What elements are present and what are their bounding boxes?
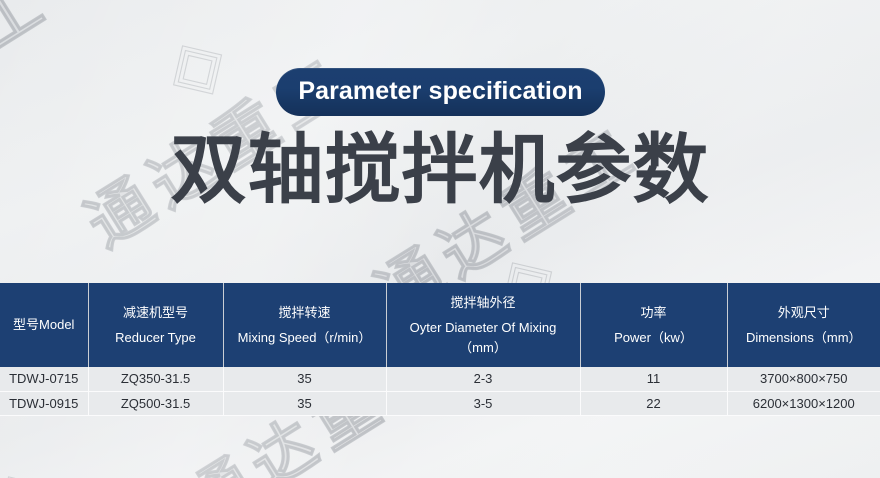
column-header-dimensions-en: Dimensions（mm）: [734, 328, 875, 348]
section-badge-label: Parameter specification: [298, 79, 582, 106]
column-header-power-en: Power（kw）: [587, 328, 721, 348]
cell-reducer-type: ZQ350-31.5: [88, 367, 223, 391]
page-content: Parameter specification 双轴搅拌机参数 型号Model …: [0, 0, 880, 478]
section-badge: Parameter specification: [276, 68, 605, 116]
column-header-dimensions: 外观尺寸 Dimensions（mm）: [727, 283, 880, 367]
spec-table-header: 型号Model 减速机型号 Reducer Type 搅拌转速 Mixing S…: [0, 283, 880, 367]
column-header-mixing-speed: 搅拌转速 Mixing Speed（r/min）: [223, 283, 386, 367]
spec-table-body: TDWJ-0715 ZQ350-31.5 35 2-3 11 3700×800×…: [0, 367, 880, 415]
spec-sheet-page: 通达重工 通达重工 通达重工 通达重工 通达重工 ◈ ◈ ◈ ◈ Paramet…: [0, 0, 880, 478]
table-row: TDWJ-0915 ZQ500-31.5 35 3-5 22 6200×1300…: [0, 391, 880, 415]
column-header-model: 型号Model: [0, 283, 88, 367]
column-header-reducer-type-cn: 减速机型号: [95, 303, 217, 323]
cell-dimensions: 6200×1300×1200: [727, 391, 880, 415]
column-header-reducer-type: 减速机型号 Reducer Type: [88, 283, 223, 367]
column-header-oyter-diameter-en: Oyter Diameter Of Mixing（mm）: [393, 318, 574, 358]
cell-model: TDWJ-0715: [0, 367, 88, 391]
column-header-oyter-diameter: 搅拌轴外径 Oyter Diameter Of Mixing（mm）: [386, 283, 580, 367]
spec-table: 型号Model 减速机型号 Reducer Type 搅拌转速 Mixing S…: [0, 283, 880, 416]
cell-power: 22: [580, 391, 727, 415]
cell-mixing-speed: 35: [223, 391, 386, 415]
column-header-dimensions-cn: 外观尺寸: [734, 303, 875, 323]
cell-power: 11: [580, 367, 727, 391]
table-header-row: 型号Model 减速机型号 Reducer Type 搅拌转速 Mixing S…: [0, 283, 880, 367]
column-header-power: 功率 Power（kw）: [580, 283, 727, 367]
cell-oyter-diameter: 2-3: [386, 367, 580, 391]
cell-oyter-diameter: 3-5: [386, 391, 580, 415]
cell-reducer-type: ZQ500-31.5: [88, 391, 223, 415]
spec-table-container: 型号Model 减速机型号 Reducer Type 搅拌转速 Mixing S…: [0, 283, 880, 416]
cell-mixing-speed: 35: [223, 367, 386, 391]
column-header-oyter-diameter-cn: 搅拌轴外径: [393, 293, 574, 313]
column-header-power-cn: 功率: [587, 303, 721, 323]
cell-dimensions: 3700×800×750: [727, 367, 880, 391]
column-header-mixing-speed-en: Mixing Speed（r/min）: [230, 328, 380, 348]
column-header-mixing-speed-cn: 搅拌转速: [230, 303, 380, 323]
column-header-reducer-type-en: Reducer Type: [95, 328, 217, 348]
page-title: 双轴搅拌机参数: [0, 132, 880, 208]
column-header-model-cn: 型号Model: [6, 315, 82, 335]
table-row: TDWJ-0715 ZQ350-31.5 35 2-3 11 3700×800×…: [0, 367, 880, 391]
cell-model: TDWJ-0915: [0, 391, 88, 415]
